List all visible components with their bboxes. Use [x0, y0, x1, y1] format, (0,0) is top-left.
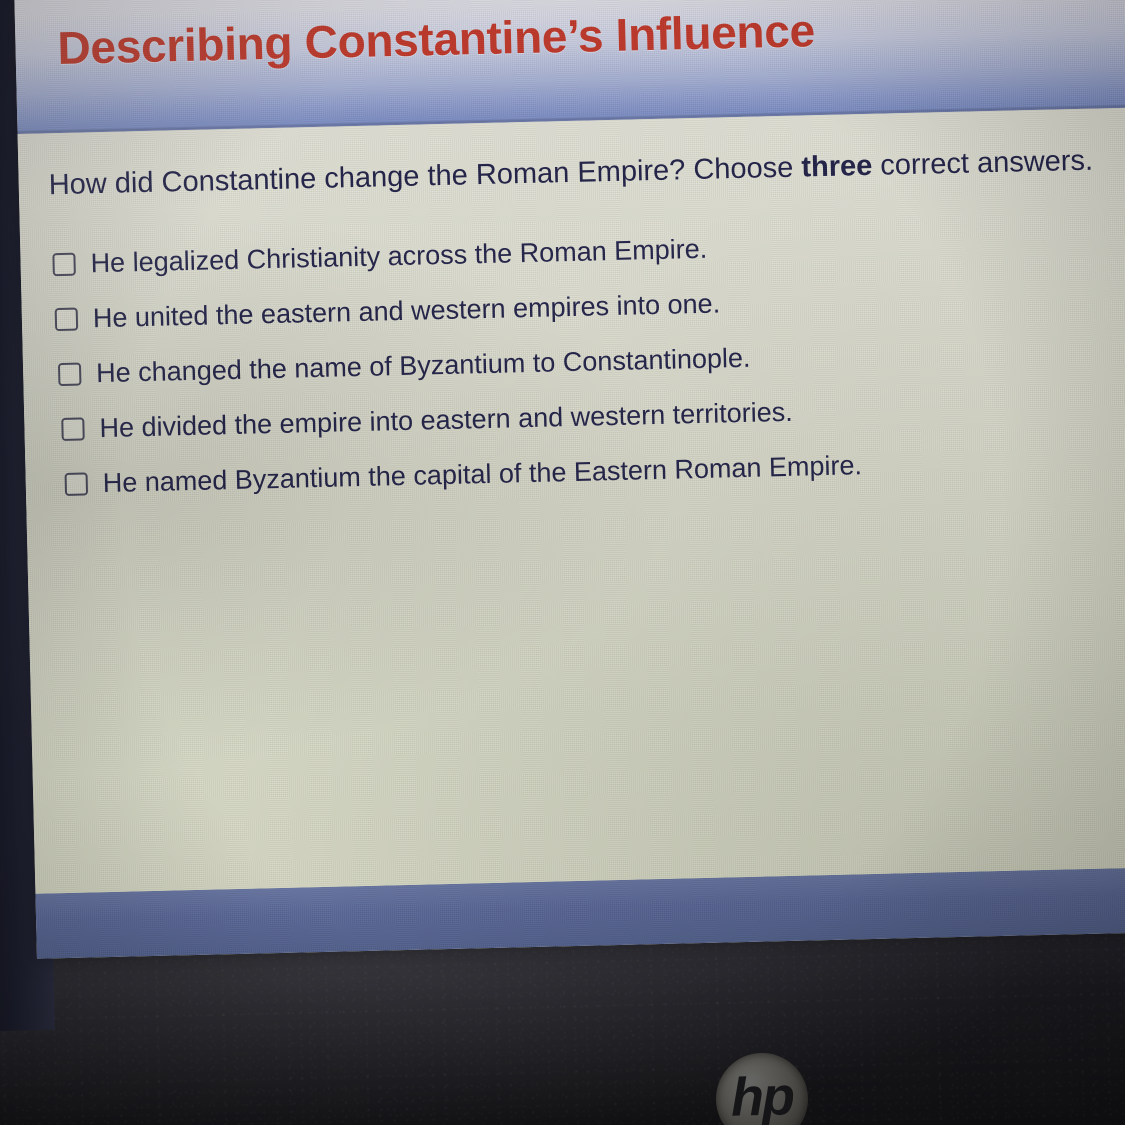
answer-option-label: He united the eastern and western empire… [93, 291, 721, 333]
checkbox-icon[interactable] [61, 418, 85, 442]
question-lead: How did Constantine change the Roman Emp… [48, 152, 801, 202]
question-emphasis: three [801, 150, 873, 184]
checkbox-icon[interactable] [55, 308, 79, 332]
answer-options-list: He legalized Christianity across the Rom… [20, 212, 1125, 514]
laptop-screen: Describing Constantine’s Influence How d… [14, 0, 1125, 959]
question-prompt: How did Constantine change the Roman Emp… [48, 142, 1121, 203]
page-title: Describing Constantine’s Influence [57, 3, 816, 75]
checkbox-icon[interactable] [58, 363, 82, 387]
answer-option-label: He divided the empire into eastern and w… [99, 399, 793, 442]
question-tail: correct answers. [872, 145, 1093, 182]
answer-option-label: He changed the name of Byzantium to Cons… [96, 345, 751, 387]
slide-body: How did Constantine change the Roman Emp… [18, 107, 1125, 893]
checkbox-icon[interactable] [65, 473, 89, 497]
answer-option-label: He legalized Christianity across the Rom… [90, 236, 707, 278]
hp-logo-text: hp [730, 1069, 793, 1124]
answer-option-label: He named Byzantium the capital of the Ea… [102, 452, 862, 497]
laptop-photo: hp Describing Constantine’s Influence Ho… [0, 0, 1125, 1125]
checkbox-icon[interactable] [52, 253, 76, 277]
